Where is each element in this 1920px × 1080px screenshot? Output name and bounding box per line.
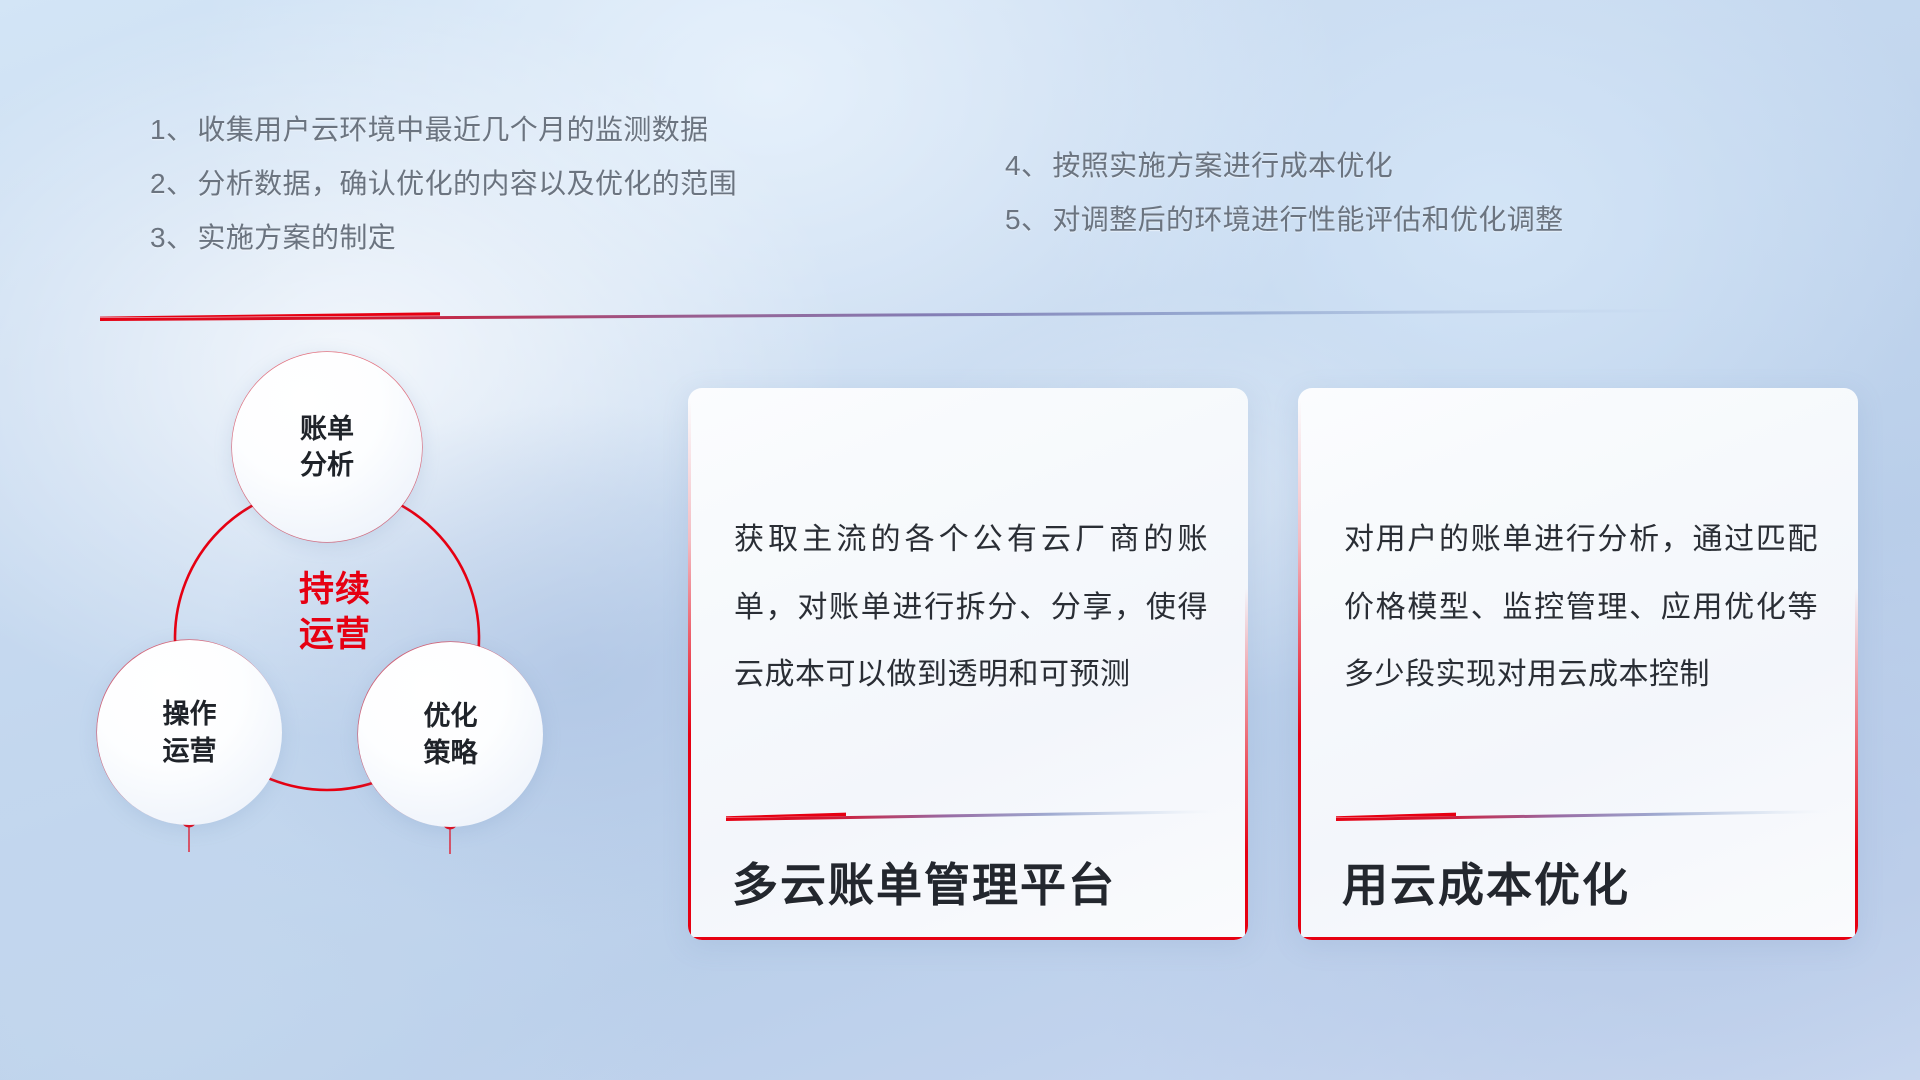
step-item: 4、 按照实施方案进行成本优化 (1005, 152, 1564, 180)
center-label-line-2: 运营 (245, 613, 425, 658)
card-border-right (1245, 588, 1248, 940)
step-number: 2、 (150, 170, 194, 198)
card-description: 对用户的账单进行分析，通过匹配价格模型、监控管理、应用优化等多少段实现对用云成本… (1344, 506, 1818, 709)
slide-canvas: 1、 收集用户云环境中最近几个月的监测数据 2、 分析数据，确认优化的内容以及优… (0, 0, 1920, 1080)
continuous-operation-diagram: 持续 运营 账单 分析 操作 运营 优化 策略 (90, 350, 670, 950)
step-text: 分析数据，确认优化的内容以及优化的范围 (197, 170, 737, 198)
bubble-label-line-2: 运营 (163, 733, 217, 769)
card-title: 多云账单管理平台 (732, 858, 1218, 913)
bubble-label-line-2: 策略 (424, 735, 478, 771)
diagram-bubble-operations[interactable]: 操作 运营 (97, 640, 282, 825)
step-item: 3、 实施方案的制定 (150, 224, 737, 252)
step-text: 收集用户云环境中最近几个月的监测数据 (197, 116, 708, 144)
step-number: 5、 (1005, 206, 1049, 234)
step-number: 3、 (150, 224, 194, 252)
card-divider (1336, 808, 1828, 820)
step-text: 按照实施方案进行成本优化 (1052, 152, 1393, 180)
steps-right-column: 4、 按照实施方案进行成本优化 5、 对调整后的环境进行性能评估和优化调整 (1005, 152, 1564, 260)
card-description: 获取主流的各个公有云厂商的账单，对账单进行拆分、分享，使得云成本可以做到透明和可… (734, 506, 1208, 709)
card-divider (726, 808, 1218, 820)
bubble-label-line-2: 分析 (300, 447, 354, 483)
diagram-bubble-optimization-strategy[interactable]: 优化 策略 (358, 642, 543, 827)
card-divider-shape (726, 809, 1218, 821)
card-divider-shape (1336, 809, 1828, 821)
card-border-left (688, 400, 691, 940)
steps-left-column: 1、 收集用户云环境中最近几个月的监测数据 2、 分析数据，确认优化的内容以及优… (150, 116, 737, 278)
bubble-label-line-1: 操作 (163, 696, 217, 732)
card-border-right (1855, 588, 1858, 940)
step-item: 1、 收集用户云环境中最近几个月的监测数据 (150, 116, 737, 144)
center-label-line-1: 持续 (245, 568, 425, 613)
step-item: 5、 对调整后的环境进行性能评估和优化调整 (1005, 206, 1564, 234)
step-text: 对调整后的环境进行性能评估和优化调整 (1052, 206, 1563, 234)
step-text: 实施方案的制定 (197, 224, 396, 252)
diagram-center-label: 持续 运营 (245, 568, 425, 658)
section-divider (100, 308, 1700, 322)
card-border-bottom (1298, 937, 1858, 940)
card-border-bottom (688, 937, 1248, 940)
step-number: 1、 (150, 116, 194, 144)
diagram-bubble-bill-analysis[interactable]: 账单 分析 (232, 352, 422, 542)
divider-shape (100, 308, 1700, 322)
bubble-label-line-1: 优化 (424, 698, 478, 734)
step-number: 4、 (1005, 152, 1049, 180)
feature-card-cloud-cost-optimization[interactable]: 对用户的账单进行分析，通过匹配价格模型、监控管理、应用优化等多少段实现对用云成本… (1298, 388, 1858, 940)
bubble-label-line-1: 账单 (300, 411, 354, 447)
feature-card-multicloud-billing[interactable]: 获取主流的各个公有云厂商的账单，对账单进行拆分、分享，使得云成本可以做到透明和可… (688, 388, 1248, 940)
step-item: 2、 分析数据，确认优化的内容以及优化的范围 (150, 170, 737, 198)
card-border-left (1298, 400, 1301, 940)
card-title: 用云成本优化 (1342, 858, 1828, 913)
